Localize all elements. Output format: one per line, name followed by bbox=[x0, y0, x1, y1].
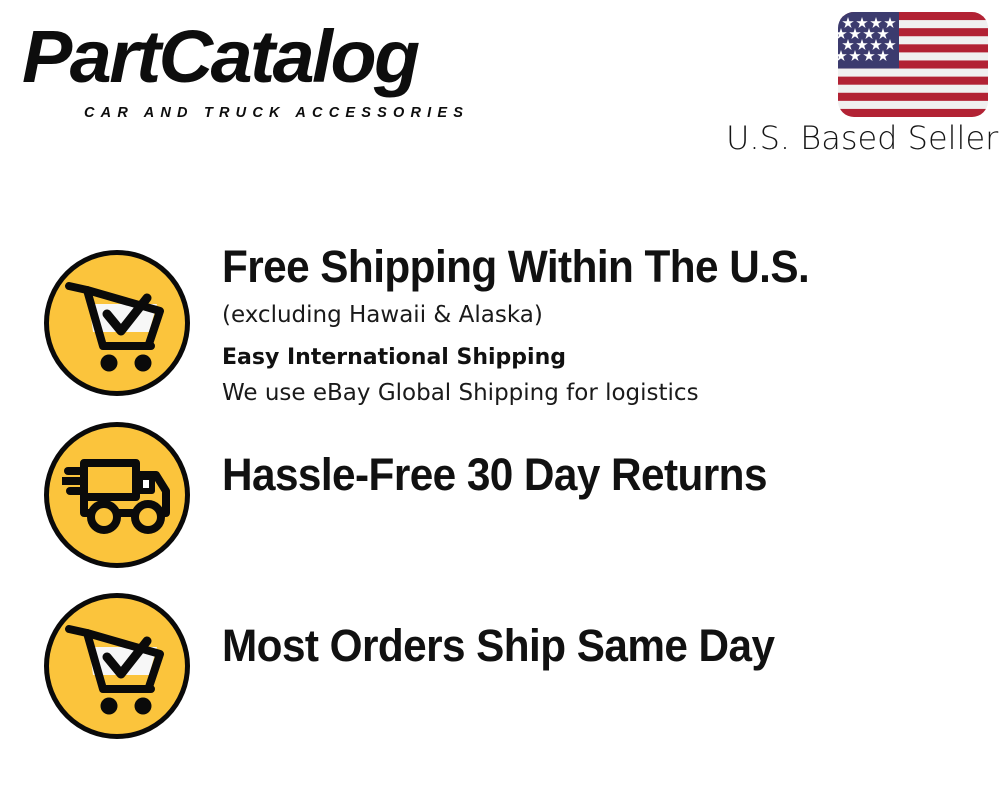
brand-header: PartCatalog CAR AND TRUCK ACCESSORIES bbox=[0, 0, 1000, 175]
logo-wordmark: PartCatalog bbox=[22, 20, 501, 94]
feature-note: (excluding Hawaii & Alaska) bbox=[222, 298, 962, 332]
shopping-cart-check-icon bbox=[44, 250, 190, 396]
feature-sub-text: We use eBay Global Shipping for logistic… bbox=[222, 376, 962, 410]
feature-row: Hassle-Free 30 Day Returns bbox=[0, 412, 1000, 572]
us-based-seller-label: U.S. Based Seller bbox=[726, 118, 988, 158]
us-flag-icon bbox=[838, 12, 988, 117]
shopping-cart-check-icon bbox=[44, 593, 190, 739]
feature-title: Hassle-Free 30 Day Returns bbox=[222, 448, 918, 502]
feature-title: Most Orders Ship Same Day bbox=[222, 619, 918, 673]
feature-title: Free Shipping Within The U.S. bbox=[222, 240, 918, 294]
feature-text: Hassle-Free 30 Day Returns bbox=[222, 448, 962, 502]
feature-sub-heading: Easy International Shipping bbox=[222, 340, 962, 376]
feature-text: Free Shipping Within The U.S. (excluding… bbox=[222, 240, 962, 410]
feature-row: Most Orders Ship Same Day bbox=[0, 583, 1000, 743]
partcatalog-logo: PartCatalog CAR AND TRUCK ACCESSORIES bbox=[22, 20, 492, 115]
feature-text: Most Orders Ship Same Day bbox=[222, 619, 962, 673]
feature-row: Free Shipping Within The U.S. (excluding… bbox=[0, 240, 1000, 410]
delivery-truck-icon bbox=[44, 422, 190, 568]
logo-tagline: CAR AND TRUCK ACCESSORIES bbox=[84, 105, 469, 121]
